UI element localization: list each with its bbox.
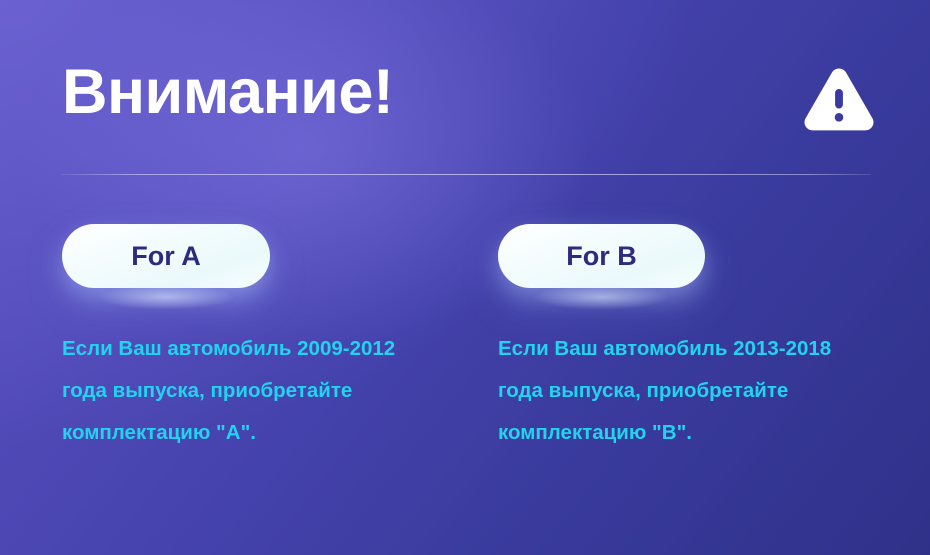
option-a-description: Если Ваш автомобиль 2009-2012 года выпус… [62,328,444,454]
for-b-button-label: For B [566,241,637,272]
header-divider [61,174,871,175]
option-b-description: Если Ваш автомобиль 2013-2018 года выпус… [498,328,880,454]
attention-banner: Внимание! For A Если Ваш автомобиль 2009… [0,0,930,555]
for-b-button[interactable]: For B [498,224,705,288]
options-row: For A Если Ваш автомобиль 2009-2012 года… [0,224,930,484]
banner-header: Внимание! [62,52,875,144]
warning-triangle-icon [803,66,875,132]
option-a-description-line-3: комплектацию "A". [62,412,444,454]
option-a-description-line-2: года выпуска, приобретайте [62,370,444,412]
option-a-description-line-1: Если Ваш автомобиль 2009-2012 [62,328,444,370]
option-column-b: For B Если Ваш автомобиль 2013-2018 года… [498,224,878,288]
option-b-description-line-1: Если Ваш автомобиль 2013-2018 [498,328,880,370]
page-title: Внимание! [62,52,393,132]
for-a-button[interactable]: For A [62,224,270,288]
option-column-a: For A Если Ваш автомобиль 2009-2012 года… [62,224,442,288]
option-b-description-line-3: комплектацию "B". [498,412,880,454]
option-b-description-line-2: года выпуска, приобретайте [498,370,880,412]
for-a-button-label: For A [131,241,201,272]
